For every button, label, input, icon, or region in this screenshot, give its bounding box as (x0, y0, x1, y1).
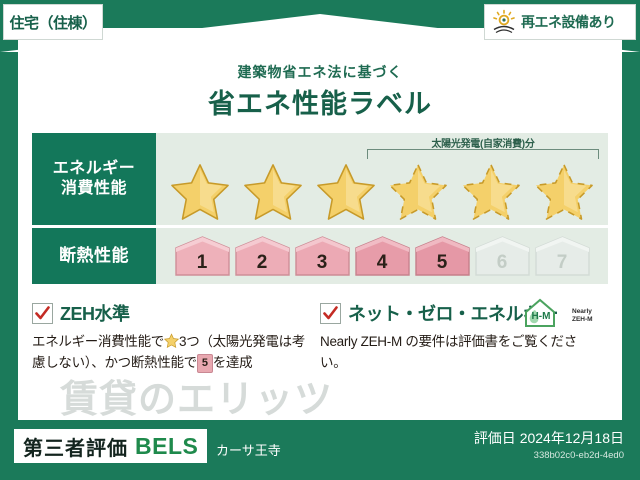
insulation-badge-num-2: 2 (257, 252, 268, 277)
zeh-text-1: エネルギー消費性能で (32, 334, 164, 349)
nzeb-note-body: Nearly ZEH-M の要件は評価書をご覧ください。 (320, 332, 598, 374)
zeh-m-logo-sub2: ZEH-M (572, 316, 593, 323)
insulation-badge-num-4: 4 (377, 252, 388, 277)
insulation-badge-7: 7 (534, 235, 591, 277)
energy-label-line1: エネルギー (53, 159, 136, 179)
bels-badge: 第三者評価 BELS (14, 429, 207, 463)
check-icon (323, 306, 338, 321)
label-title: 省エネ性能ラベル (18, 82, 622, 121)
star-icon-solar-6 (533, 161, 595, 221)
insulation-performance-label-box: 断熱性能 (32, 228, 156, 284)
insulation-badge-list: 1 2 (156, 228, 608, 284)
star-icon-solar-4 (387, 161, 449, 221)
label-subtitle: 建築物省エネ法に基づく (18, 62, 622, 82)
insulation-badge-num-3: 3 (317, 252, 328, 277)
insulation-badges-area: 1 2 (156, 228, 608, 284)
insulation-badge-num-7: 7 (557, 252, 568, 277)
star-icon-solar-5 (460, 161, 522, 221)
insulation-badge-5: 5 (414, 235, 471, 277)
renewable-equipment-label: 再エネ設備あり (521, 12, 616, 32)
evaluation-date: 評価日 2024年12月18日 (474, 428, 624, 448)
insulation-badge-3: 3 (294, 235, 351, 277)
energy-performance-label: 住宅（住棟） 再エネ設備あり 建築物省エネ法に基づく 省エネ性能ラベル (0, 0, 640, 480)
insulation-badge-2: 2 (234, 235, 291, 277)
insulation-badge-6: 6 (474, 235, 531, 277)
notes-section: ZEH水準 エネルギー消費性能で 3つ（太陽光発電は考慮しない）、かつ断熱性能で… (32, 300, 608, 396)
evaluation-info: 評価日 2024年12月18日 338b02c0-eb2d-4ed0 (474, 428, 624, 461)
star-icon-filled-3 (315, 161, 377, 221)
energy-label-line2: 消費性能 (61, 179, 127, 199)
energy-stars-area: 太陽光発電(自家消費)分 (156, 133, 608, 225)
insulation-performance-row: 断熱性能 1 (32, 228, 608, 284)
energy-performance-row: エネルギー 消費性能 太陽光発電(自家消費)分 (32, 133, 608, 225)
label-panel: 建築物省エネ法に基づく 省エネ性能ラベル エネルギー 消費性能 太陽光発電(自家… (18, 28, 622, 420)
inline-star-icon (164, 333, 179, 348)
zeh-note-title: ZEH水準 (60, 300, 130, 326)
star-icon-filled-2 (242, 161, 304, 221)
check-icon (35, 306, 50, 321)
zeh-note-head: ZEH水準 (32, 300, 310, 326)
solar-bracket (367, 149, 599, 159)
insulation-badge-num-1: 1 (197, 252, 208, 277)
sun-renewable-icon (491, 9, 517, 35)
zeh-text-3: を達成 (213, 355, 253, 370)
insulation-badge-4: 4 (354, 235, 411, 277)
zeh-note: ZEH水準 エネルギー消費性能で 3つ（太陽光発電は考慮しない）、かつ断熱性能で… (32, 300, 320, 396)
zeh-m-logo-icon: H-M Nearly ZEH-M (522, 296, 600, 330)
star-icon-filled-1 (169, 161, 231, 221)
nzeb-note: ネット・ゼロ・エネルギー Nearly ZEH-M の要件は評価書をご覧ください… (320, 300, 608, 396)
zeh-checkbox (32, 303, 53, 324)
bels-en-label: BELS (135, 433, 198, 460)
solar-generation-note: 太陽光発電(自家消費)分 (367, 135, 599, 150)
zeh-m-logo-sub1: Nearly (572, 308, 592, 315)
evaluation-uid: 338b02c0-eb2d-4ed0 (474, 450, 624, 461)
renewable-equipment-tag: 再エネ設備あり (484, 4, 636, 40)
building-type-tag: 住宅（住棟） (3, 4, 103, 40)
footer-band: 第三者評価 BELS カーサ王寺 評価日 2024年12月18日 338b02c… (0, 420, 640, 480)
insulation-badge-num-5: 5 (437, 252, 448, 277)
star-rating (156, 161, 608, 221)
building-type-label: 住宅（住棟） (9, 12, 96, 33)
nzeb-checkbox (320, 303, 341, 324)
building-name: カーサ王寺 (216, 440, 281, 459)
zeh-inline-badge: 5 (197, 354, 213, 373)
insulation-label: 断熱性能 (59, 245, 129, 266)
zeh-note-body: エネルギー消費性能で 3つ（太陽光発電は考慮しない）、かつ断熱性能で5を達成 (32, 332, 310, 374)
zeh-m-logo-text: H-M (532, 311, 551, 322)
energy-performance-label-box: エネルギー 消費性能 (32, 133, 156, 225)
bels-jp-label: 第三者評価 (23, 432, 128, 461)
insulation-badge-1: 1 (174, 235, 231, 277)
insulation-badge-num-6: 6 (497, 252, 508, 277)
